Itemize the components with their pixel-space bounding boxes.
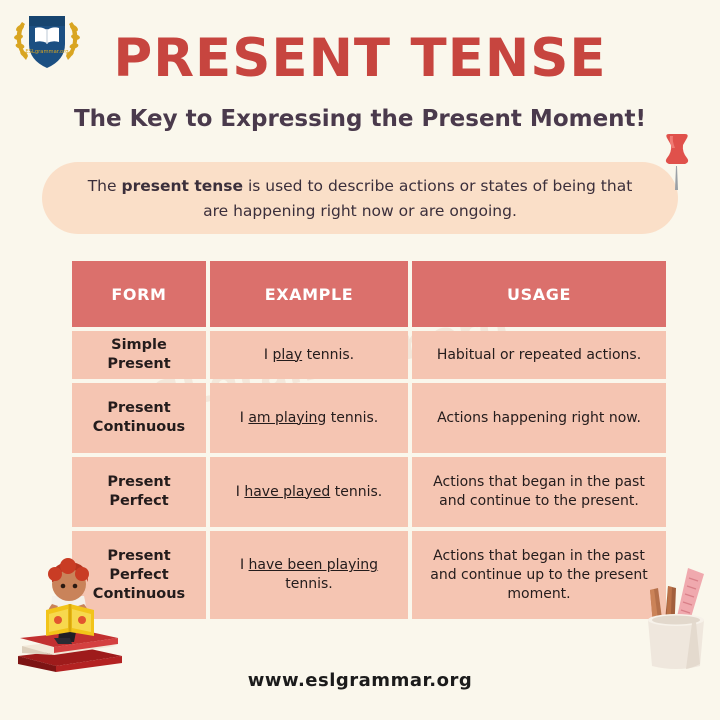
cell-usage: Habitual or repeated actions. (412, 331, 666, 379)
child-reading-book-on-books-icon (12, 552, 142, 672)
description-suffix: is used to describe actions or states of… (203, 177, 632, 220)
example-post: tennis. (326, 410, 378, 426)
cell-form: Simple Present (72, 331, 206, 379)
cell-example: I have played tennis. (210, 457, 408, 527)
example-underlined: have been playing (249, 557, 379, 573)
example-post: tennis. (330, 484, 382, 500)
description-banner: The present tense is used to describe ac… (42, 162, 678, 234)
red-pushpin-icon (655, 132, 699, 194)
pushpin-decoration (655, 132, 699, 194)
cell-example: I have been playing tennis. (210, 531, 408, 619)
example-pre: I (264, 347, 273, 363)
cell-form: Present Perfect (72, 457, 206, 527)
description-prefix: The (88, 177, 122, 195)
table-header-row: FORM EXAMPLE USAGE (72, 261, 666, 327)
example-underlined: have played (244, 484, 330, 500)
cell-form: Present Continuous (72, 383, 206, 453)
page-subtitle: The Key to Expressing the Present Moment… (0, 104, 720, 134)
column-header-form: FORM (72, 261, 206, 327)
table-row: Present Continuous I am playing tennis. … (72, 383, 666, 453)
cell-usage: Actions happening right now. (412, 383, 666, 453)
cell-usage: Actions that began in the past and conti… (412, 457, 666, 527)
example-underlined: am playing (248, 410, 326, 426)
example-underlined: play (273, 347, 303, 363)
infographic-page: ESLgrammar.org PRESENT TENSE The Key to … (0, 0, 720, 720)
pencil-cup-illustration (636, 560, 716, 675)
table-row: Present Perfect Continuous I have been p… (72, 531, 666, 619)
description-text: The present tense is used to describe ac… (82, 174, 638, 224)
example-pre: I (240, 557, 249, 573)
column-header-example: EXAMPLE (210, 261, 408, 327)
child-reading-illustration (12, 552, 142, 672)
cell-usage: Actions that began in the past and conti… (412, 531, 666, 619)
table-row: Present Perfect I have played tennis. Ac… (72, 457, 666, 527)
tense-table: FORM EXAMPLE USAGE Simple Present I play… (72, 261, 666, 619)
cell-example: I play tennis. (210, 331, 408, 379)
description-bold-term: present tense (121, 177, 243, 195)
column-header-usage: USAGE (412, 261, 666, 327)
example-post: tennis. (285, 576, 332, 592)
footer-url: www.eslgrammar.org (0, 670, 720, 691)
example-post: tennis. (302, 347, 354, 363)
table-row: Simple Present I play tennis. Habitual o… (72, 331, 666, 379)
page-title: PRESENT TENSE (0, 30, 720, 88)
cell-example: I am playing tennis. (210, 383, 408, 453)
pencil-cup-with-ruler-icon (636, 560, 716, 675)
